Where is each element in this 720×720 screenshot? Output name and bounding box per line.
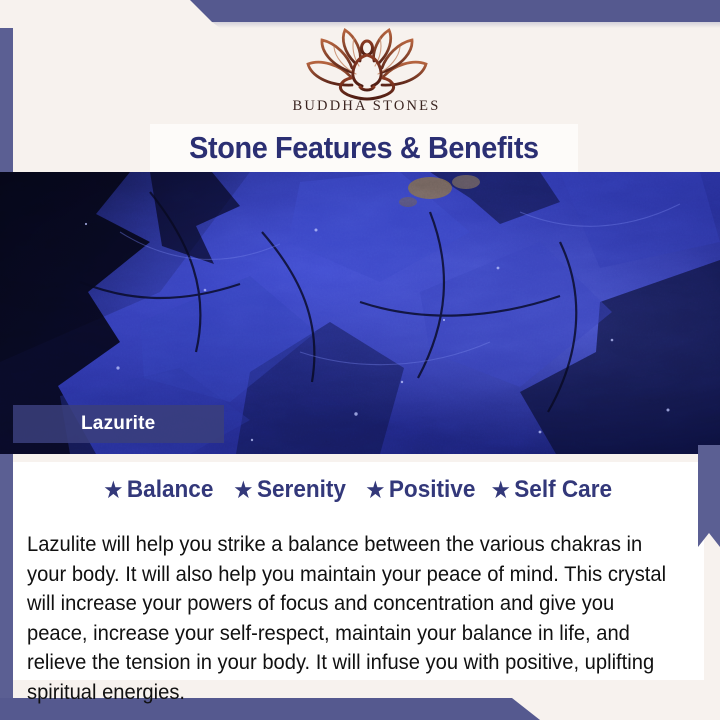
- stone-name-tag: Lazurite: [13, 405, 224, 443]
- top-angled-banner: [0, 0, 720, 22]
- star-icon: ★: [234, 480, 252, 501]
- lotus-meditation-icon: [292, 26, 442, 102]
- card-top-band: [13, 454, 704, 462]
- stone-features-poster: BUDDHA STONES Stone Features & Benefits: [0, 0, 720, 720]
- benefit-label: Positive: [389, 476, 476, 504]
- stone-description: Lazulite will help you strike a balance …: [27, 530, 668, 707]
- benefit-label: Balance: [127, 476, 214, 504]
- title-plate: Stone Features & Benefits: [150, 124, 578, 172]
- brand-wordmark: BUDDHA STONES: [293, 98, 441, 115]
- benefits-row: ★ Balance ★ Serenity ★ Positive ★ Self C…: [13, 476, 704, 504]
- benefit-self-care: ★ Self Care: [492, 476, 612, 504]
- page-title: Stone Features & Benefits: [189, 130, 539, 166]
- brand-header: BUDDHA STONES: [13, 28, 720, 124]
- benefit-balance: ★ Balance: [104, 476, 213, 504]
- benefit-label: Serenity: [257, 476, 346, 504]
- star-icon: ★: [492, 480, 510, 501]
- benefit-label: Self Care: [514, 476, 612, 504]
- stone-name-label: Lazurite: [81, 413, 155, 435]
- right-ribbon-marker: [698, 445, 720, 547]
- star-icon: ★: [367, 480, 385, 501]
- star-icon: ★: [104, 480, 122, 501]
- benefit-serenity: ★ Serenity: [234, 476, 345, 504]
- benefit-positive: ★ Positive: [367, 476, 476, 504]
